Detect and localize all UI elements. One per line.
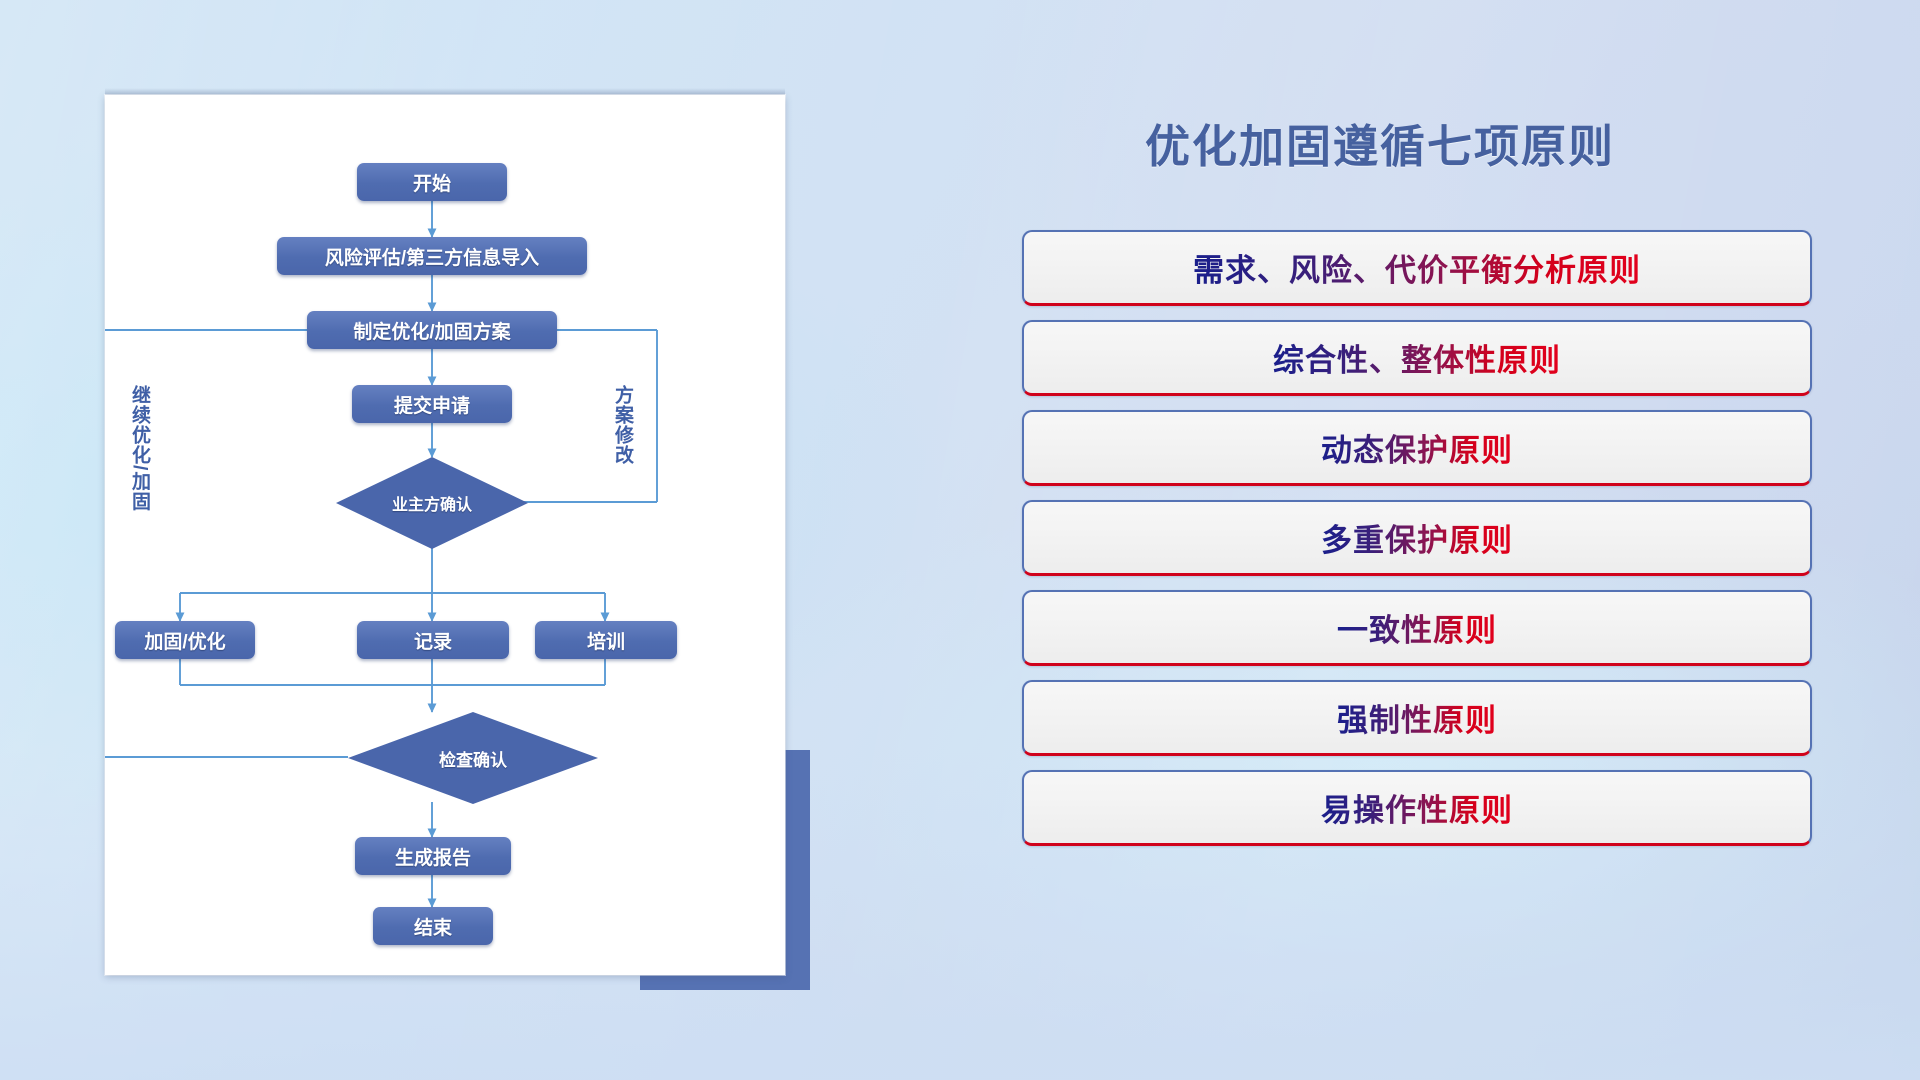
flow-node-label: 风险评估/第三方信息导入: [325, 243, 539, 270]
flow-node-start[interactable]: 开始: [357, 163, 507, 201]
flow-node-generate-report[interactable]: 生成报告: [355, 837, 511, 875]
principle-label: 多重保护原则: [1321, 515, 1513, 560]
principle-label: 易操作性原则: [1321, 785, 1513, 830]
flow-node-label: 加固/优化: [144, 627, 225, 654]
principle-label: 一致性原则: [1337, 605, 1497, 650]
flow-node-submit-application[interactable]: 提交申请: [352, 385, 512, 423]
principle-label: 需求、风险、代价平衡分析原则: [1193, 245, 1641, 290]
flow-node-label: 检查确认: [439, 746, 507, 771]
flow-edge-label-continue-optimize: 继续优化/加固: [129, 385, 149, 511]
panel-title: 优化加固遵循七项原则: [1145, 110, 1615, 175]
flow-node-label: 提交申请: [394, 391, 470, 418]
flow-node-label: 开始: [413, 169, 451, 196]
flow-edge-label-plan-revision: 方案修改: [612, 385, 632, 465]
principles-list: 需求、风险、代价平衡分析原则 综合性、整体性原则 动态保护原则 多重保护原则 一…: [1022, 230, 1812, 860]
flow-node-label: 结束: [414, 913, 452, 940]
flow-node-label: 业主方确认: [392, 491, 472, 515]
principle-label: 综合性、整体性原则: [1273, 335, 1561, 380]
flow-node-label: 制定优化/加固方案: [353, 317, 510, 344]
principle-item[interactable]: 需求、风险、代价平衡分析原则: [1022, 230, 1812, 306]
principle-item[interactable]: 一致性原则: [1022, 590, 1812, 666]
flow-node-end[interactable]: 结束: [373, 907, 493, 945]
flow-node-label: 培训: [587, 627, 625, 654]
flow-node-record[interactable]: 记录: [357, 621, 509, 659]
flow-node-label: 记录: [414, 627, 452, 654]
principle-item[interactable]: 综合性、整体性原则: [1022, 320, 1812, 396]
flow-node-label: 生成报告: [395, 843, 471, 870]
flow-node-risk-assessment[interactable]: 风险评估/第三方信息导入: [277, 237, 587, 275]
principle-label: 动态保护原则: [1321, 425, 1513, 470]
principle-item[interactable]: 动态保护原则: [1022, 410, 1812, 486]
flow-node-training[interactable]: 培训: [535, 621, 677, 659]
principle-item[interactable]: 多重保护原则: [1022, 500, 1812, 576]
principle-item[interactable]: 易操作性原则: [1022, 770, 1812, 846]
flow-node-plan[interactable]: 制定优化/加固方案: [307, 311, 557, 349]
flow-node-reinforce[interactable]: 加固/优化: [115, 621, 255, 659]
flowchart: 开始 风险评估/第三方信息导入 制定优化/加固方案 提交申请 业主方确认 加固/…: [105, 95, 785, 975]
principle-item[interactable]: 强制性原则: [1022, 680, 1812, 756]
principle-label: 强制性原则: [1337, 695, 1497, 740]
